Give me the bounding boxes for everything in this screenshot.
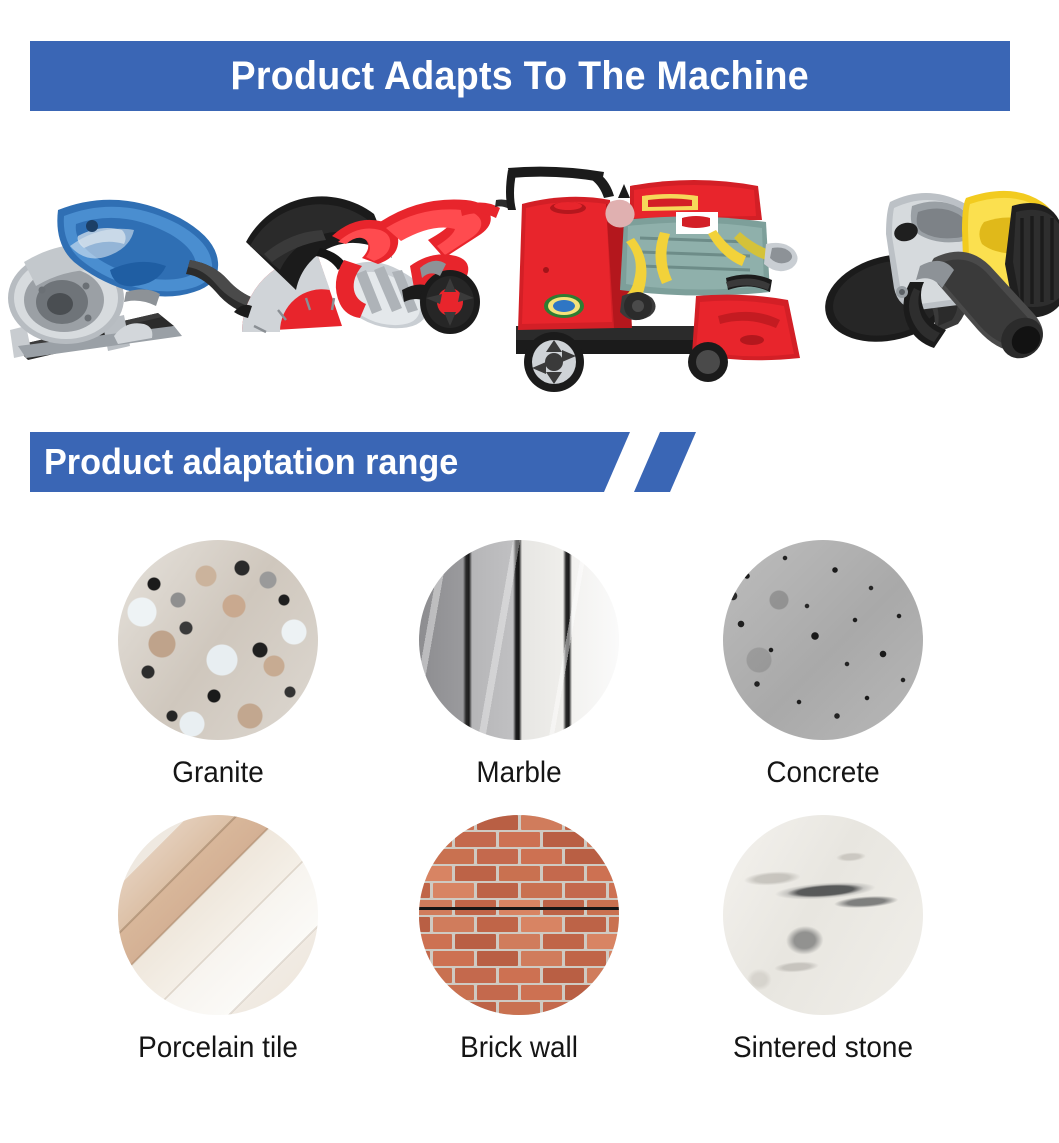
machine-item-concrete-cut-off-saw — [224, 150, 514, 400]
brick — [565, 985, 606, 1000]
brick — [609, 883, 619, 898]
machine-item-walk-behind-floor-saw — [500, 150, 830, 400]
brick-wall-label: Brick wall — [412, 1031, 626, 1065]
brick — [521, 849, 562, 864]
brick — [587, 866, 619, 881]
machines-row — [0, 150, 1059, 400]
brick — [419, 934, 452, 949]
brick — [499, 968, 540, 983]
marble-swatch — [419, 540, 619, 740]
primary-banner: Product Adapts To The Machine — [30, 41, 1010, 111]
brick — [609, 985, 619, 1000]
brick — [609, 849, 619, 864]
porcelain-tile-label: Porcelain tile — [111, 1031, 325, 1065]
brick — [419, 917, 430, 932]
angle-grinder-icon — [816, 150, 1059, 400]
material-row: Porcelain tile Brick wall Sintered stone — [0, 815, 1059, 1090]
brick — [609, 917, 619, 932]
brick — [587, 968, 619, 983]
brick — [419, 985, 430, 1000]
brick — [587, 1002, 619, 1015]
brick — [433, 985, 474, 1000]
brick — [477, 917, 518, 932]
primary-banner-title: Product Adapts To The Machine — [231, 54, 809, 99]
brick — [455, 968, 496, 983]
brick — [477, 883, 518, 898]
concrete-swatch — [723, 540, 923, 740]
material-row: Granite Marble Concrete — [0, 540, 1059, 815]
brick — [433, 815, 474, 830]
secondary-banner-bar: Product adaptation range — [30, 432, 630, 492]
porcelain-tile-swatch — [118, 815, 318, 1015]
material-grid: Granite Marble Concrete Porcelain tile B… — [0, 540, 1059, 1090]
brick — [587, 832, 619, 847]
brick — [543, 866, 584, 881]
brick — [477, 985, 518, 1000]
material-item-brick-wall: Brick wall — [404, 815, 634, 1065]
brick-row — [419, 815, 619, 833]
brick-row — [419, 951, 619, 969]
brick — [543, 832, 584, 847]
brick — [419, 832, 452, 847]
concrete-cut-off-saw-icon — [224, 150, 514, 400]
brick-row — [419, 985, 619, 1003]
brick — [521, 815, 562, 830]
brick — [609, 815, 619, 830]
material-item-sintered-stone: Sintered stone — [708, 815, 938, 1065]
brick — [587, 934, 619, 949]
brick — [419, 849, 430, 864]
secondary-banner: Product adaptation range — [30, 432, 710, 492]
material-item-porcelain-tile: Porcelain tile — [103, 815, 333, 1065]
brick-row — [419, 883, 619, 901]
brick-row — [419, 968, 619, 986]
brick — [433, 917, 474, 932]
brick — [543, 968, 584, 983]
brick — [477, 815, 518, 830]
brick — [419, 951, 430, 966]
brick — [477, 951, 518, 966]
sintered-stone-swatch — [723, 815, 923, 1015]
brick — [565, 815, 606, 830]
brick — [419, 1002, 452, 1015]
brick — [499, 866, 540, 881]
brick — [433, 883, 474, 898]
brick — [521, 951, 562, 966]
brick — [419, 968, 452, 983]
material-item-marble: Marble — [404, 540, 634, 790]
machine-item-marble-tile-cutter — [6, 150, 256, 400]
granite-swatch — [118, 540, 318, 740]
secondary-banner-slash-accent — [634, 432, 696, 492]
brick — [433, 849, 474, 864]
brick — [477, 849, 518, 864]
sintered-stone-label: Sintered stone — [716, 1031, 930, 1065]
brick — [565, 883, 606, 898]
brick — [543, 1002, 584, 1015]
concrete-label: Concrete — [716, 756, 930, 790]
brick — [565, 917, 606, 932]
walk-behind-floor-saw-icon — [500, 150, 830, 400]
brick — [433, 951, 474, 966]
brick — [565, 849, 606, 864]
marble-tile-cutter-icon — [6, 150, 256, 400]
brick — [455, 934, 496, 949]
material-item-concrete: Concrete — [708, 540, 938, 790]
brick-row — [419, 849, 619, 867]
granite-label: Granite — [111, 756, 325, 790]
brick — [455, 866, 496, 881]
brick — [543, 934, 584, 949]
brick-row — [419, 917, 619, 935]
brick — [455, 1002, 496, 1015]
brick — [419, 866, 452, 881]
brick-row — [419, 934, 619, 952]
brick-wall-swatch — [419, 815, 619, 1015]
marble-label: Marble — [412, 756, 626, 790]
brick — [499, 934, 540, 949]
brick — [609, 951, 619, 966]
brick-pattern — [419, 815, 619, 1015]
brick — [521, 883, 562, 898]
brick — [499, 1002, 540, 1015]
material-item-granite: Granite — [103, 540, 333, 790]
secondary-banner-title: Product adaptation range — [44, 441, 458, 483]
brick — [419, 883, 430, 898]
brick — [521, 985, 562, 1000]
brick-row — [419, 866, 619, 884]
brick — [419, 815, 430, 830]
brick — [499, 832, 540, 847]
brick — [521, 917, 562, 932]
brick-row — [419, 832, 619, 850]
brick — [455, 832, 496, 847]
brick — [565, 951, 606, 966]
machine-item-angle-grinder — [816, 150, 1059, 400]
brick-row — [419, 1002, 619, 1015]
brick-dark-seam — [419, 907, 619, 910]
